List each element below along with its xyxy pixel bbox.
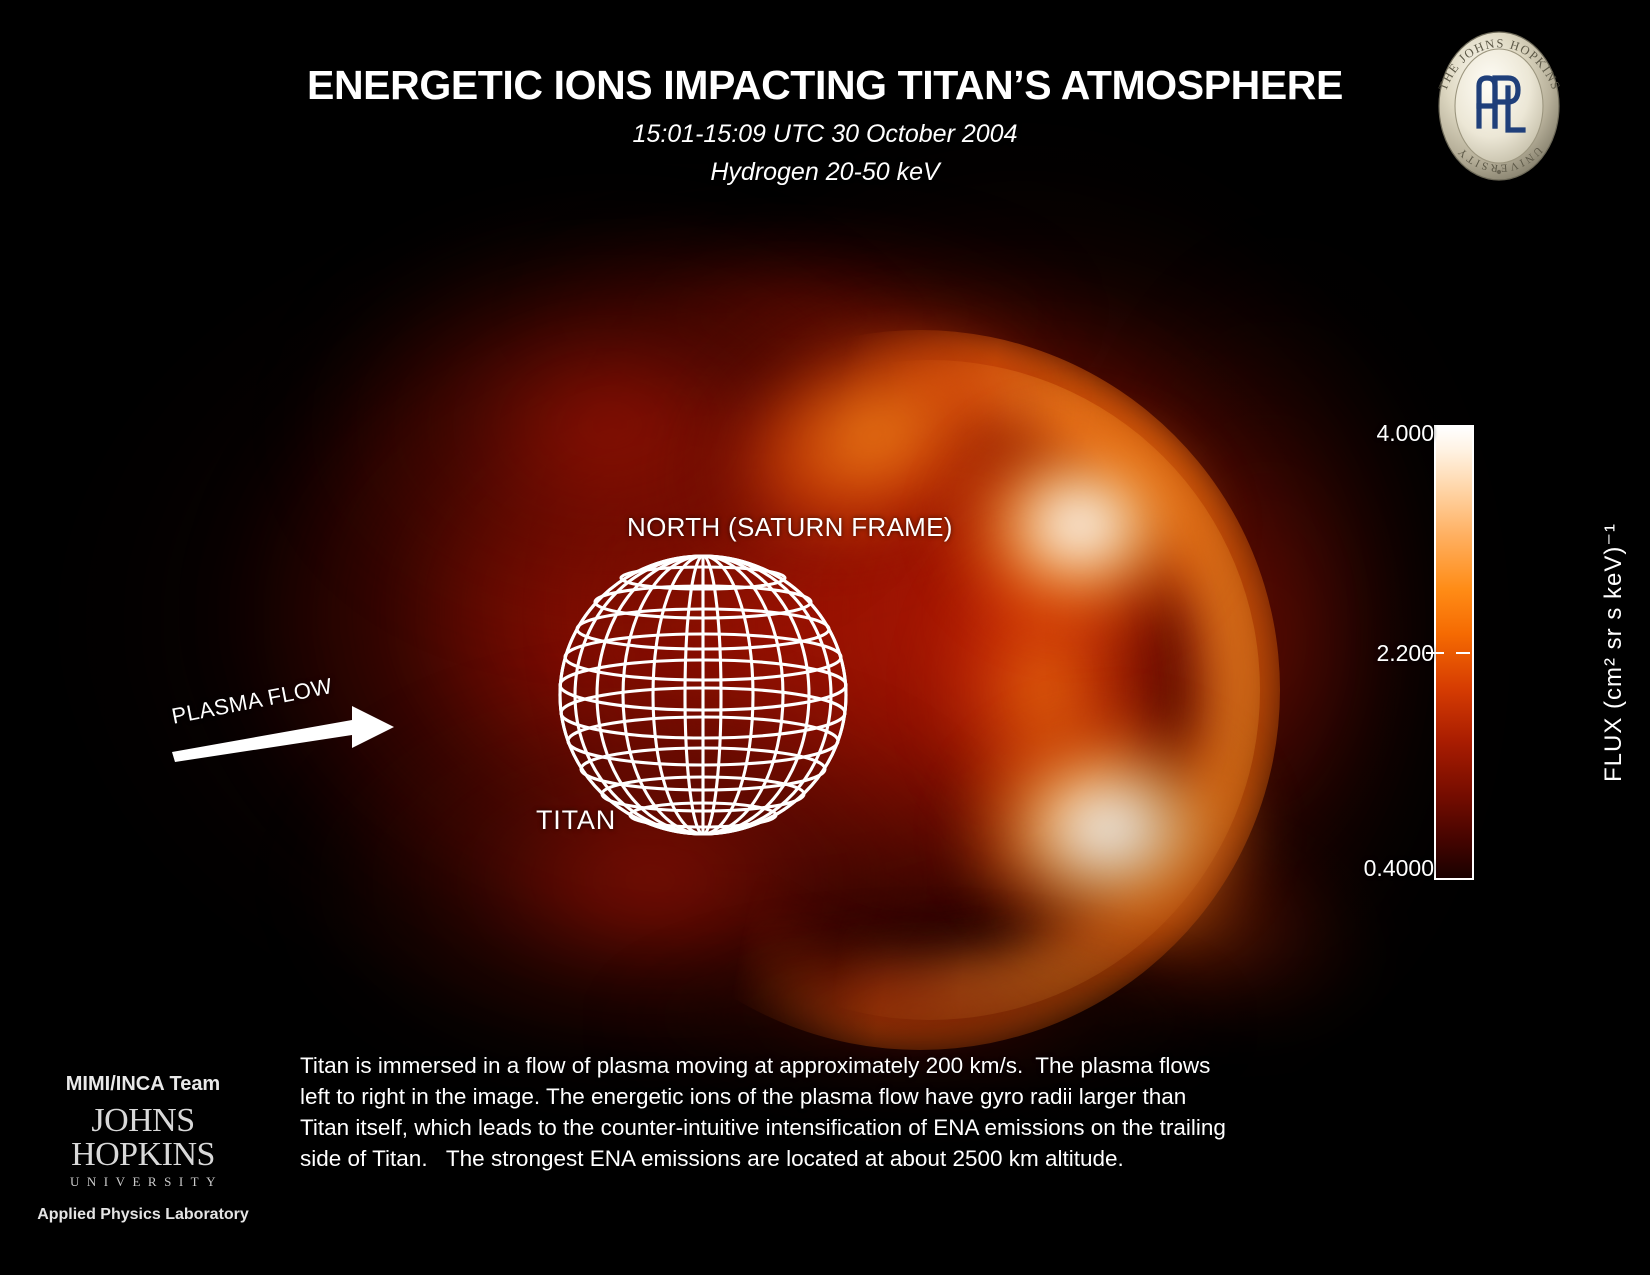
- titan-wireframe-globe: [548, 545, 858, 845]
- caption-line-2: left to right in the image. The energeti…: [300, 1081, 1232, 1112]
- colorbar-tick-mark-right: [1456, 652, 1470, 654]
- right-arrow-icon: [172, 690, 402, 770]
- colorbar-tick-max: 4.000: [1376, 420, 1434, 447]
- north-direction-label: NORTH (SATURN FRAME): [627, 512, 953, 543]
- institution-name: JOHNS HOPKINS: [18, 1104, 268, 1172]
- figure-caption: Titan is immersed in a flow of plasma mo…: [300, 1050, 1232, 1174]
- colorbar-axis-label-wrap: FLUX (cm² sr s keV)⁻¹: [1484, 425, 1650, 880]
- credit-block: MIMI/INCA Team JOHNS HOPKINS UNIVERSITY …: [18, 1073, 268, 1224]
- plasma-flow-annotation: PLASMA FLOW: [172, 690, 402, 770]
- caption-line-3: Titan itself, which leads to the counter…: [300, 1112, 1232, 1143]
- figure-header: ENERGETIC IONS IMPACTING TITAN’S ATMOSPH…: [0, 0, 1650, 187]
- lab-name: Applied Physics Laboratory: [18, 1206, 268, 1224]
- titan-label: TITAN: [536, 805, 616, 836]
- ion-species: Hydrogen 20-50 keV: [0, 158, 1650, 187]
- colorbar: 4.000 2.200 0.4000 FLUX (cm² sr s keV)⁻¹: [1356, 425, 1586, 895]
- page-title: ENERGETIC IONS IMPACTING TITAN’S ATMOSPH…: [0, 62, 1650, 109]
- team-name: MIMI/INCA Team: [18, 1073, 268, 1096]
- caption-line-4: side of Titan. The strongest ENA emissio…: [300, 1143, 1232, 1174]
- colorbar-tick-min: 0.4000: [1364, 855, 1434, 882]
- wireframe-globe-icon: [560, 556, 846, 834]
- observation-time: 15:01-15:09 UTC 30 October 2004: [0, 120, 1650, 149]
- jhuapl-seal-logo: THE JOHNS HOPKINS UNIVERSITY: [1422, 26, 1577, 186]
- figure-canvas: ENERGETIC IONS IMPACTING TITAN’S ATMOSPH…: [0, 0, 1650, 1275]
- colorbar-tick-mark-left: [1426, 652, 1444, 654]
- colorbar-axis-label: FLUX (cm² sr s keV)⁻¹: [1599, 523, 1628, 782]
- caption-line-1: Titan is immersed in a flow of plasma mo…: [300, 1050, 1232, 1081]
- institution-subtitle: UNIVERSITY: [25, 1174, 268, 1190]
